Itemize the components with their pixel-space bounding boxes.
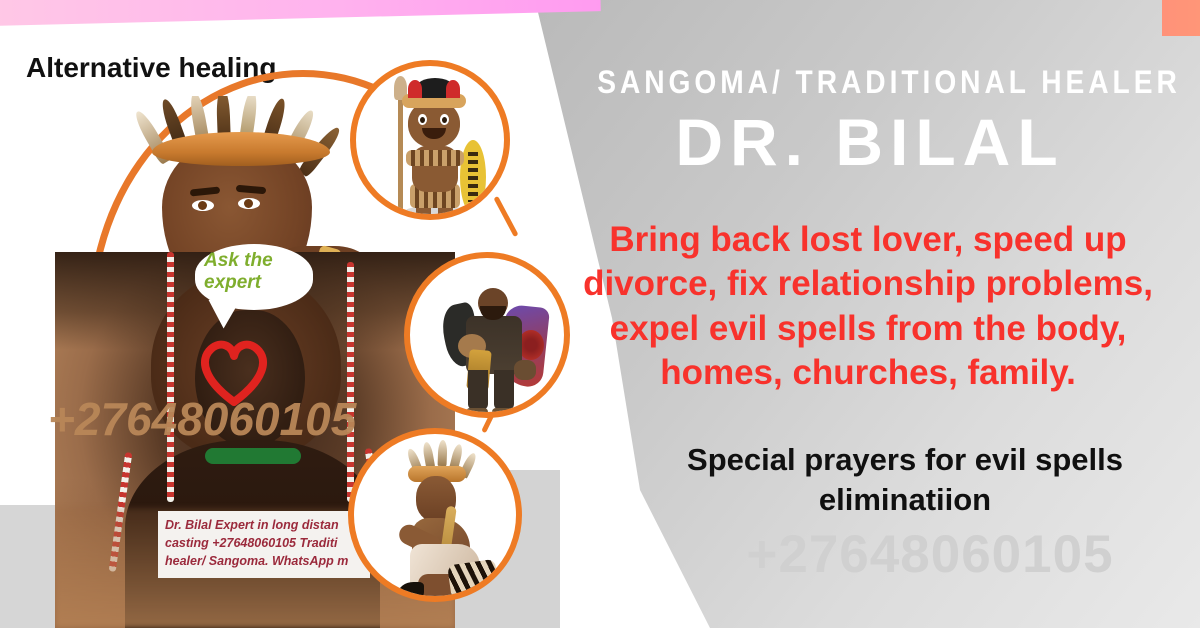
services-text: Bring back lost lover, speed up divorce,… — [548, 218, 1188, 396]
caption-line-3: healer/ Sangoma. WhatsApp m — [165, 552, 364, 570]
kicker-headline: SANGOMA/ TRADITIONAL HEALER — [597, 64, 1143, 101]
pink-accent-strip — [0, 0, 601, 26]
orange-accent-strip — [1162, 0, 1200, 36]
special-prayers-text: Special prayers for evil spells eliminat… — [620, 440, 1190, 521]
red-heart-outline — [196, 338, 272, 406]
poster-canvas: Alternative healing +2764806 — [0, 0, 1200, 628]
doctor-name-headline: DR. BILAL — [560, 104, 1180, 180]
robed-healer-illustration — [404, 252, 570, 418]
kneeling-sangoma-illustration — [348, 428, 522, 602]
speech-bubble-text: Ask the expert — [204, 250, 308, 294]
caption-line-2: casting +27648060105 Traditi — [165, 534, 364, 552]
speech-bubble-tail — [209, 296, 246, 329]
phone-watermark: +27648060105 — [660, 524, 1200, 585]
photo-caption-box: Dr. Bilal Expert in long distan casting … — [158, 511, 370, 578]
caption-line-1: Dr. Bilal Expert in long distan — [165, 516, 364, 534]
tagline-alternative-healing: Alternative healing — [26, 52, 277, 84]
circle-connector-1 — [493, 196, 518, 237]
zulu-warrior-illustration — [350, 60, 510, 220]
